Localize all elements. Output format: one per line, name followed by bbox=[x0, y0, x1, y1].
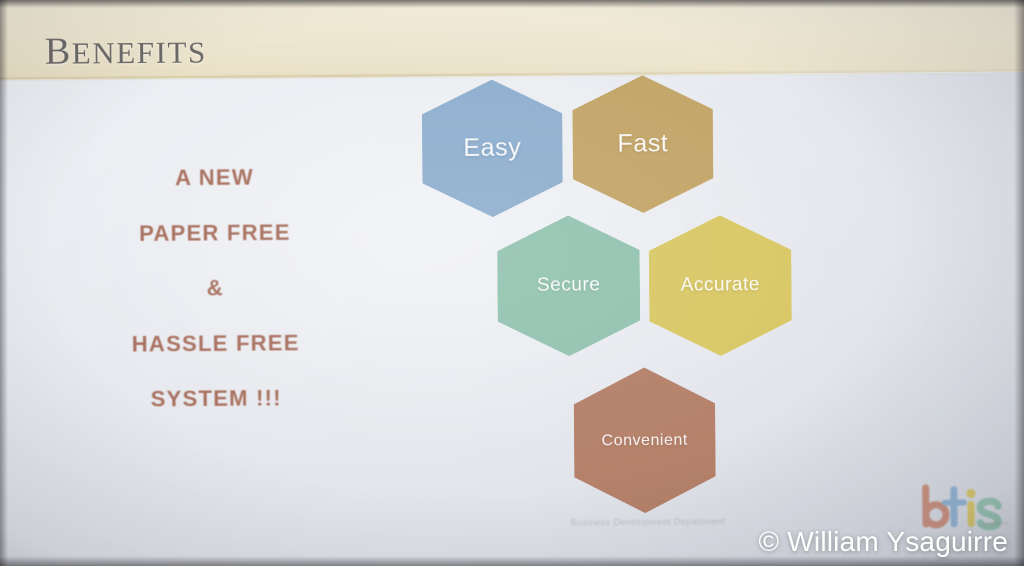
copy-line-2: PAPER FREE bbox=[86, 204, 343, 261]
slide-keystone-wrapper: Benefits A NEW PAPER FREE & HASSLE FREE … bbox=[0, 0, 1024, 566]
hexagon-convenient-label: Convenient bbox=[601, 431, 687, 450]
hexagon-secure: Secure bbox=[497, 215, 641, 357]
hexagon-accurate: Accurate bbox=[648, 215, 792, 357]
hexagon-easy: Easy bbox=[421, 79, 563, 218]
hexagon-convenient: Convenient bbox=[573, 367, 716, 514]
copy-line-1: A NEW bbox=[86, 149, 343, 206]
page-title: Benefits bbox=[44, 14, 206, 78]
copy-line-5: SYSTEM !!! bbox=[87, 370, 344, 427]
benefits-copy-block: A NEW PAPER FREE & HASSLE FREE SYSTEM !!… bbox=[86, 149, 345, 427]
copy-line-4: HASSLE FREE bbox=[87, 315, 344, 372]
slide-surface: Benefits A NEW PAPER FREE & HASSLE FREE … bbox=[0, 0, 1024, 566]
projected-slide-photo: Benefits A NEW PAPER FREE & HASSLE FREE … bbox=[0, 0, 1024, 566]
hexagon-easy-label: Easy bbox=[463, 134, 521, 164]
hexagon-fast: Fast bbox=[572, 75, 714, 214]
hexagon-accurate-label: Accurate bbox=[681, 274, 760, 297]
photo-watermark: © William Ysaguirre bbox=[758, 526, 1008, 558]
hexagon-fast-label: Fast bbox=[617, 129, 668, 159]
slide-footer-note: Business Development Department bbox=[571, 516, 726, 527]
hexagon-secure-label: Secure bbox=[537, 275, 601, 298]
copy-line-3: & bbox=[87, 259, 344, 316]
